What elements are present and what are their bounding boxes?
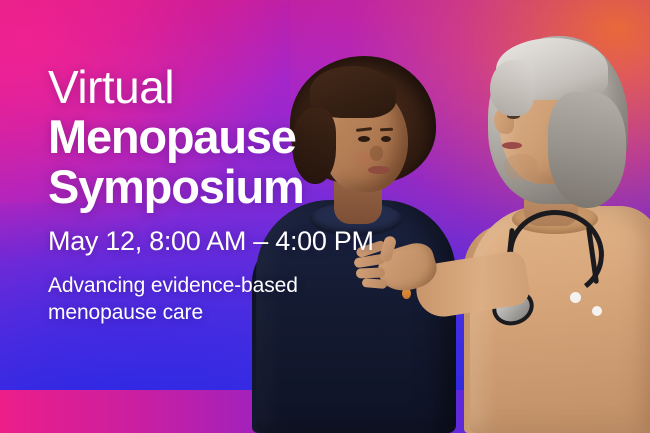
event-tagline: Advancing evidence-based menopause care	[48, 272, 358, 326]
doctor-hair-fringe	[490, 60, 534, 116]
headline-line-3: Symposium	[48, 162, 408, 212]
event-date-time: May 12, 8:00 AM – 4:00 PM	[48, 224, 408, 258]
doctor-chin	[504, 154, 538, 180]
stethoscope-earpiece-a	[570, 292, 581, 303]
banner-copy-block: Virtual Menopause Symposium May 12, 8:00…	[48, 62, 408, 326]
stethoscope-earpiece-b	[592, 306, 602, 316]
headline-line-2: Menopause	[48, 112, 408, 162]
doctor-lips	[502, 142, 522, 149]
headline-line-1: Virtual	[48, 62, 408, 112]
person-doctor	[440, 14, 650, 433]
doctor-hair-bob	[548, 92, 626, 208]
menopause-symposium-banner: Virtual Menopause Symposium May 12, 8:00…	[0, 0, 650, 433]
